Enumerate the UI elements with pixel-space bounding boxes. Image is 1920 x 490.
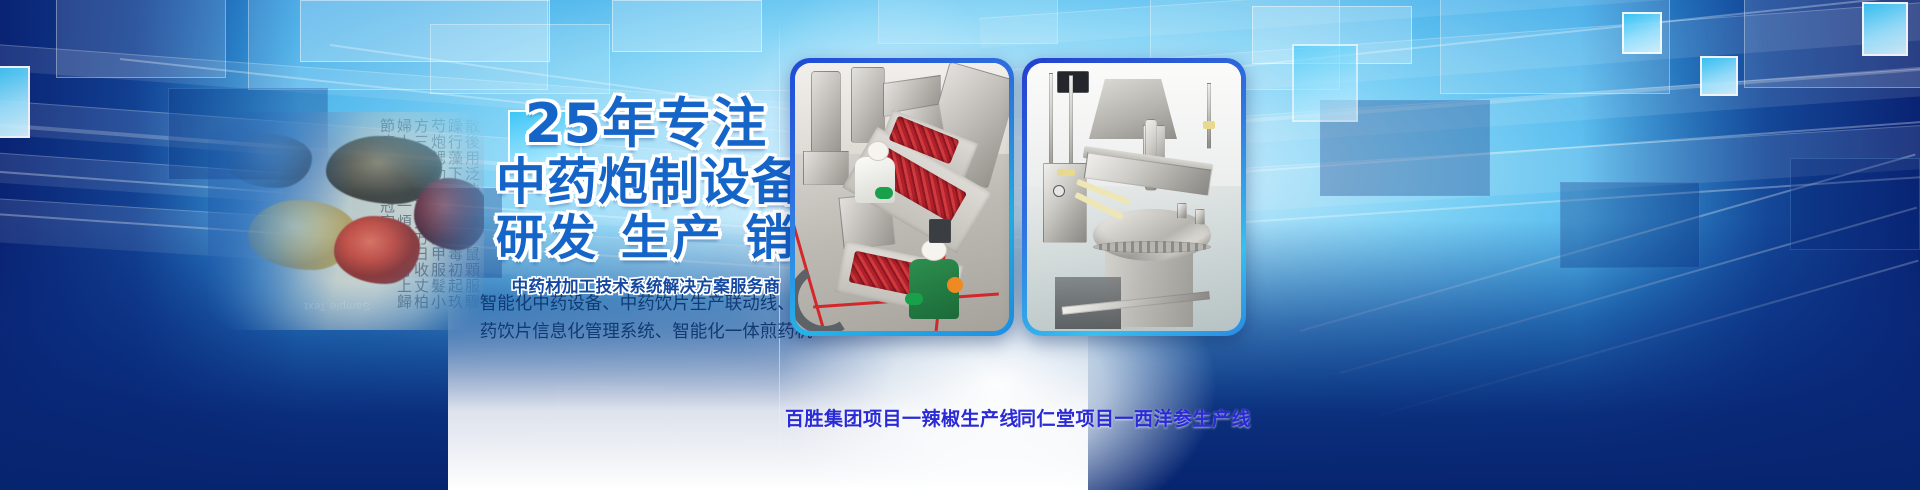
vessel-clamp-ring <box>1093 241 1211 253</box>
vessel-valve-left <box>1177 203 1187 219</box>
caption-ginseng-line: 同仁堂项目一西洋参生产线 <box>994 404 1274 431</box>
worker-lower <box>903 239 969 321</box>
herb-photo-watermark: Sample Text <box>304 300 370 312</box>
promo-banner: 散後用泛沙下甲一鼠顆服驟躁行藻下露百一止毒初起玖芍炮鳃动補陰丸田甲服髮小方三月炙… <box>0 0 1920 490</box>
headline-block: 25年专注 中药炮制设备 研发 生产 销售 中药材加工技术系统解决方案服务商 <box>496 96 796 297</box>
body-copy: 智能化中药设备、中药饮片生产联动线、中 药饮片信息化管理系统、智能化一体煎药机 <box>466 290 826 347</box>
waste-bin <box>929 219 951 243</box>
worker-lower-glove <box>905 293 923 305</box>
headline-line-1: 25年专注 <box>496 96 796 152</box>
body-copy-line-1: 智能化中药设备、中药饮片生产联动线、中 <box>466 290 826 318</box>
ginseng-line-photo <box>1027 63 1241 331</box>
worker-upper <box>851 141 903 203</box>
project-photo-chili-line[interactable] <box>790 58 1014 336</box>
wall-pipe <box>1207 83 1211 149</box>
body-copy-line-2: 药饮片信息化管理系统、智能化一体煎药机 <box>466 318 826 346</box>
column-machine <box>811 71 841 155</box>
chili-line-photo <box>795 63 1009 331</box>
column-machine-base <box>803 151 849 185</box>
cabinet-label <box>1057 169 1075 176</box>
gauge-dial <box>1053 185 1065 197</box>
control-panel <box>1057 71 1089 93</box>
project-photo-ginseng-line[interactable] <box>1022 58 1246 336</box>
pipe-fitting <box>1203 121 1215 129</box>
headline-line-2: 中药炮制设备 <box>496 156 796 208</box>
worker-lower-helmet <box>947 277 963 293</box>
worker-upper-cap <box>867 141 889 161</box>
vessel-valve-right <box>1195 209 1205 225</box>
headline-line-3: 研发 生产 销售 <box>496 214 796 264</box>
herb-photo-blue-tint <box>208 112 484 330</box>
herbal-medicine-ancient-text-photo: 散後用泛沙下甲一鼠顆服驟躁行藻下露百一止毒初起玖芍炮鳃动補陰丸田甲服髮小方三月炙… <box>208 112 484 330</box>
worker-upper-glove <box>875 187 893 199</box>
vessel-lid <box>1093 209 1211 261</box>
